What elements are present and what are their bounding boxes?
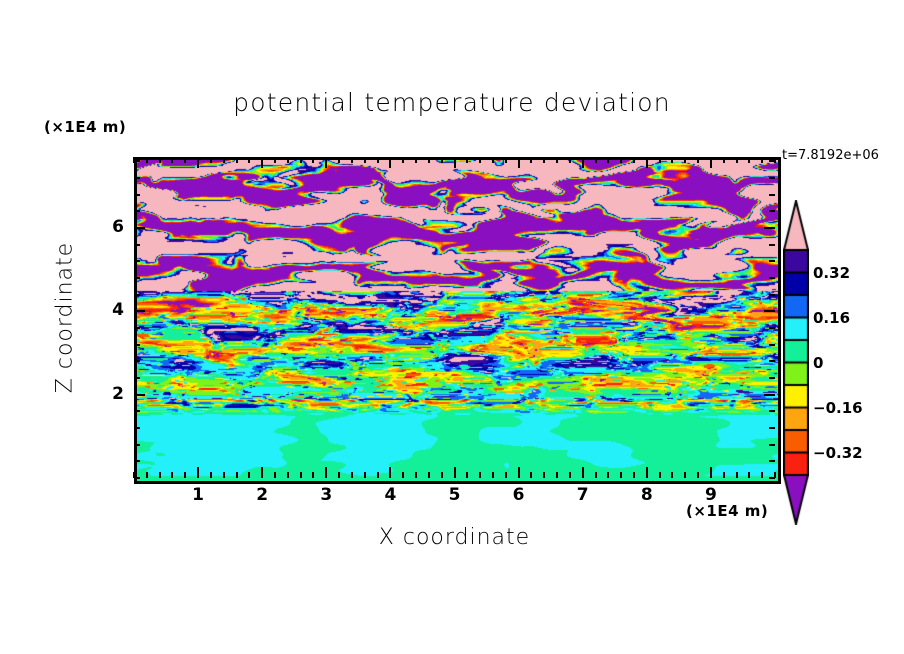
- x-tick-minor: [530, 472, 532, 478]
- x-tick-major: [710, 467, 712, 478]
- x-tick-label: 4: [375, 485, 405, 505]
- x-tick-major: [325, 467, 327, 478]
- x-axis-title: X coordinate: [134, 525, 775, 550]
- x-tick-minor-top: [595, 157, 597, 163]
- y-tick-minor-right: [769, 160, 775, 162]
- x-tick-minor: [236, 472, 238, 478]
- x-tick-major: [197, 467, 199, 478]
- colorbar-canvas: [783, 200, 809, 525]
- colorbar-tick-label: −0.32: [813, 444, 863, 462]
- y-tick-label: 4: [94, 300, 124, 320]
- page-title: potential temperature deviation: [0, 88, 904, 117]
- x-tick-minor: [607, 472, 609, 478]
- x-tick-major-top: [261, 157, 263, 168]
- x-tick-minor-top: [364, 157, 366, 163]
- x-tick-minor: [184, 472, 186, 478]
- x-tick-major-top: [710, 157, 712, 168]
- x-tick-minor-top: [723, 157, 725, 163]
- x-tick-label: 6: [504, 485, 534, 505]
- x-tick-minor: [479, 472, 481, 478]
- x-tick-minor-top: [607, 157, 609, 163]
- x-tick-minor: [556, 472, 558, 478]
- y-tick-minor: [134, 477, 140, 479]
- x-tick-minor-top: [543, 157, 545, 163]
- colorbar-tick-label: −0.16: [813, 399, 863, 417]
- y-tick-minor: [134, 244, 140, 246]
- x-tick-minor: [146, 472, 148, 478]
- x-tick-minor: [748, 472, 750, 478]
- y-tick-minor: [134, 194, 140, 196]
- y-tick-major: [134, 310, 145, 312]
- x-tick-minor-top: [684, 157, 686, 163]
- x-axis-unit-label: (×1E4 m): [686, 502, 768, 520]
- x-tick-minor: [338, 472, 340, 478]
- x-tick-minor-top: [659, 157, 661, 163]
- y-tick-minor: [134, 294, 140, 296]
- x-tick-label: 2: [247, 485, 277, 505]
- x-tick-minor: [761, 472, 763, 478]
- x-tick-minor-top: [377, 157, 379, 163]
- x-tick-minor-top: [428, 157, 430, 163]
- y-tick-major-right: [764, 310, 775, 312]
- x-tick-minor-top: [415, 157, 417, 163]
- x-tick-minor-top: [159, 157, 161, 163]
- x-tick-label: 5: [440, 485, 470, 505]
- y-tick-minor: [134, 360, 140, 362]
- x-tick-minor: [287, 472, 289, 478]
- colorbar-tick-label: 0.16: [813, 309, 850, 327]
- x-tick-label: 7: [568, 485, 598, 505]
- y-tick-minor-right: [769, 360, 775, 362]
- x-tick-major: [389, 467, 391, 478]
- x-tick-major-top: [389, 157, 391, 168]
- y-tick-minor-right: [769, 177, 775, 179]
- x-tick-minor: [723, 472, 725, 478]
- x-tick-minor-top: [633, 157, 635, 163]
- y-tick-minor-right: [769, 460, 775, 462]
- y-tick-minor: [134, 344, 140, 346]
- x-tick-minor-top: [466, 157, 468, 163]
- y-tick-minor: [134, 277, 140, 279]
- y-axis-title: Z coordinate: [53, 218, 78, 418]
- figure-root: potential temperature deviation (×1E4 m)…: [0, 0, 904, 654]
- x-tick-minor-top: [274, 157, 276, 163]
- y-tick-minor: [134, 377, 140, 379]
- x-tick-minor: [312, 472, 314, 478]
- x-tick-major: [261, 467, 263, 478]
- x-tick-major: [582, 467, 584, 478]
- x-tick-major-top: [325, 157, 327, 168]
- x-tick-minor-top: [338, 157, 340, 163]
- x-tick-major-top: [518, 157, 520, 168]
- x-tick-minor: [505, 472, 507, 478]
- time-annotation: t=7.8192e+06: [782, 148, 879, 163]
- x-tick-minor-top: [492, 157, 494, 163]
- colorbar-tick-label: 0: [813, 354, 823, 372]
- y-tick-major-right: [764, 394, 775, 396]
- y-tick-minor: [134, 327, 140, 329]
- x-tick-minor-top: [736, 157, 738, 163]
- y-tick-label: 2: [94, 384, 124, 404]
- x-tick-minor: [402, 472, 404, 478]
- x-tick-minor: [377, 472, 379, 478]
- y-tick-minor: [134, 210, 140, 212]
- y-tick-minor-right: [769, 260, 775, 262]
- y-tick-minor-right: [769, 444, 775, 446]
- x-tick-minor: [620, 472, 622, 478]
- y-tick-minor: [134, 427, 140, 429]
- x-tick-minor: [441, 472, 443, 478]
- x-tick-label: 8: [632, 485, 662, 505]
- y-axis-unit-label: (×1E4 m): [44, 118, 126, 136]
- x-tick-minor: [171, 472, 173, 478]
- x-tick-minor-top: [530, 157, 532, 163]
- x-tick-minor-top: [697, 157, 699, 163]
- x-tick-minor-top: [146, 157, 148, 163]
- y-tick-minor: [134, 260, 140, 262]
- x-tick-minor: [569, 472, 571, 478]
- y-tick-label: 6: [94, 217, 124, 237]
- x-tick-minor: [210, 472, 212, 478]
- x-tick-minor-top: [300, 157, 302, 163]
- x-tick-major-top: [646, 157, 648, 168]
- y-tick-minor-right: [769, 327, 775, 329]
- x-tick-minor: [543, 472, 545, 478]
- y-tick-minor: [134, 460, 140, 462]
- x-tick-minor: [697, 472, 699, 478]
- x-tick-minor: [671, 472, 673, 478]
- x-tick-minor-top: [505, 157, 507, 163]
- x-tick-minor: [300, 472, 302, 478]
- y-tick-minor-right: [769, 427, 775, 429]
- x-tick-minor: [351, 472, 353, 478]
- x-tick-minor: [274, 472, 276, 478]
- y-tick-minor-right: [769, 194, 775, 196]
- x-tick-major-top: [197, 157, 199, 168]
- x-tick-minor-top: [402, 157, 404, 163]
- y-tick-minor: [134, 177, 140, 179]
- x-tick-minor: [415, 472, 417, 478]
- x-tick-minor: [633, 472, 635, 478]
- x-tick-minor: [223, 472, 225, 478]
- x-tick-minor-top: [748, 157, 750, 163]
- x-tick-major: [518, 467, 520, 478]
- y-tick-minor-right: [769, 344, 775, 346]
- y-tick-minor-right: [769, 244, 775, 246]
- x-tick-minor: [595, 472, 597, 478]
- colorbar[interactable]: [783, 200, 809, 525]
- x-tick-minor: [248, 472, 250, 478]
- y-tick-minor-right: [769, 410, 775, 412]
- x-tick-minor: [659, 472, 661, 478]
- y-tick-minor-right: [769, 377, 775, 379]
- x-tick-minor-top: [210, 157, 212, 163]
- y-tick-minor: [134, 444, 140, 446]
- x-tick-minor: [736, 472, 738, 478]
- x-tick-minor-top: [569, 157, 571, 163]
- contour-field-canvas: [137, 160, 778, 481]
- x-tick-minor-top: [620, 157, 622, 163]
- x-tick-major-top: [582, 157, 584, 168]
- x-tick-minor-top: [761, 157, 763, 163]
- y-tick-minor-right: [769, 210, 775, 212]
- x-tick-label: 1: [183, 485, 213, 505]
- x-tick-minor-top: [236, 157, 238, 163]
- x-tick-major-top: [454, 157, 456, 168]
- x-tick-minor: [684, 472, 686, 478]
- x-tick-minor-top: [287, 157, 289, 163]
- x-tick-minor-top: [441, 157, 443, 163]
- plot-area: [134, 157, 781, 484]
- x-tick-major: [454, 467, 456, 478]
- y-tick-minor-right: [769, 477, 775, 479]
- x-tick-minor: [466, 472, 468, 478]
- x-tick-minor-top: [556, 157, 558, 163]
- y-tick-minor-right: [769, 294, 775, 296]
- y-tick-major: [134, 394, 145, 396]
- x-tick-minor-top: [671, 157, 673, 163]
- x-tick-minor: [159, 472, 161, 478]
- x-tick-minor: [364, 472, 366, 478]
- y-tick-minor: [134, 160, 140, 162]
- x-tick-minor: [428, 472, 430, 478]
- x-tick-minor-top: [351, 157, 353, 163]
- x-tick-major: [646, 467, 648, 478]
- y-tick-minor-right: [769, 277, 775, 279]
- x-tick-minor-top: [479, 157, 481, 163]
- x-tick-minor-top: [184, 157, 186, 163]
- x-tick-minor: [492, 472, 494, 478]
- y-tick-major-right: [764, 227, 775, 229]
- x-tick-minor-top: [171, 157, 173, 163]
- x-tick-label: 3: [311, 485, 341, 505]
- x-tick-minor-top: [223, 157, 225, 163]
- colorbar-tick-label: 0.32: [813, 264, 850, 282]
- y-tick-major: [134, 227, 145, 229]
- x-tick-minor-top: [248, 157, 250, 163]
- x-tick-minor-top: [312, 157, 314, 163]
- y-tick-minor: [134, 410, 140, 412]
